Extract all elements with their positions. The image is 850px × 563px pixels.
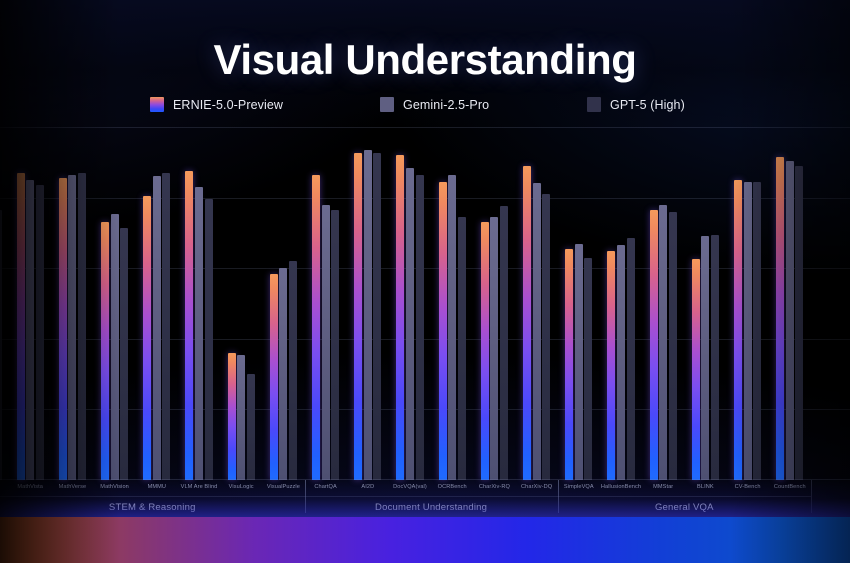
bar-gemini[interactable] [490,217,498,480]
bar-gpt[interactable] [500,206,508,480]
bar-gpt[interactable] [331,210,339,480]
bar-gpt[interactable] [795,166,803,480]
bar-ernie[interactable] [228,353,236,480]
legend-swatch-gpt-icon [587,97,601,112]
bar-gpt[interactable] [120,228,128,480]
legend-label-ernie: ERNIE-5.0-Preview [173,98,283,112]
bar-gpt[interactable] [542,194,550,480]
legend-swatch-gemini-icon [380,97,394,112]
bar-ernie[interactable] [734,180,742,480]
bar-gemini[interactable] [701,236,709,480]
bar-ernie[interactable] [692,259,700,480]
bar-ernie[interactable] [17,173,25,480]
bar-ernie[interactable] [439,182,447,480]
bar-gpt[interactable] [584,258,592,480]
bar-ernie[interactable] [143,196,151,480]
bar-ernie[interactable] [396,155,404,480]
bar-gemini[interactable] [448,175,456,480]
bar-ernie[interactable] [776,157,784,480]
bar-gpt[interactable] [711,235,719,480]
bar-gemini[interactable] [744,182,752,480]
legend-item-ernie[interactable]: ERNIE-5.0-Preview [150,97,283,112]
bar-gemini[interactable] [68,175,76,480]
bar-gpt[interactable] [0,210,2,480]
bar-gpt[interactable] [416,175,424,480]
bar-ernie[interactable] [565,249,573,480]
bar-gemini[interactable] [322,205,330,480]
legend-item-gemini[interactable]: Gemini-2.5-Pro [380,97,489,112]
bar-ernie[interactable] [607,251,615,480]
bar-gemini[interactable] [575,244,583,481]
bar-gemini[interactable] [111,214,119,481]
bar-ernie[interactable] [270,274,278,481]
bar-ernie[interactable] [523,166,531,480]
bar-ernie[interactable] [101,222,109,480]
bottom-gradient-band [0,517,850,563]
bar-ernie[interactable] [312,175,320,480]
bar-gpt[interactable] [36,185,44,480]
bottom-glow [0,477,850,517]
bar-series-container [0,127,850,480]
bar-gemini[interactable] [364,150,372,480]
bar-gpt[interactable] [289,261,297,480]
chart-title: Visual Understanding [0,36,850,84]
chart-legend: ERNIE-5.0-Preview Gemini-2.5-Pro GPT-5 (… [150,97,710,115]
legend-label-gemini: Gemini-2.5-Pro [403,98,489,112]
bar-gemini[interactable] [617,245,625,480]
bar-gemini[interactable] [26,180,34,480]
bar-gpt[interactable] [162,173,170,480]
legend-item-gpt[interactable]: GPT-5 (High) [587,97,685,112]
plot-area [0,127,850,480]
bar-gemini[interactable] [153,176,161,480]
bar-gemini[interactable] [195,187,203,480]
chart-screenshot: Visual Understanding ERNIE-5.0-Preview G… [0,0,850,563]
bar-gemini[interactable] [279,268,287,480]
bar-gpt[interactable] [205,199,213,480]
bar-ernie[interactable] [481,222,489,480]
bar-gpt[interactable] [78,173,86,480]
bar-gpt[interactable] [627,238,635,480]
bar-gemini[interactable] [406,168,414,480]
bar-ernie[interactable] [59,178,67,480]
bar-gemini[interactable] [533,183,541,480]
bar-gemini[interactable] [237,355,245,480]
bar-ernie[interactable] [185,171,193,480]
bar-gpt[interactable] [458,217,466,480]
legend-label-gpt: GPT-5 (High) [610,98,685,112]
legend-swatch-ernie-icon [150,97,164,112]
bar-gpt[interactable] [247,374,255,480]
bar-gpt[interactable] [669,212,677,480]
bar-gemini[interactable] [786,161,794,480]
bar-gemini[interactable] [659,205,667,480]
bar-gpt[interactable] [753,182,761,480]
bar-ernie[interactable] [650,210,658,480]
bar-ernie[interactable] [354,153,362,480]
bar-gpt[interactable] [373,153,381,480]
